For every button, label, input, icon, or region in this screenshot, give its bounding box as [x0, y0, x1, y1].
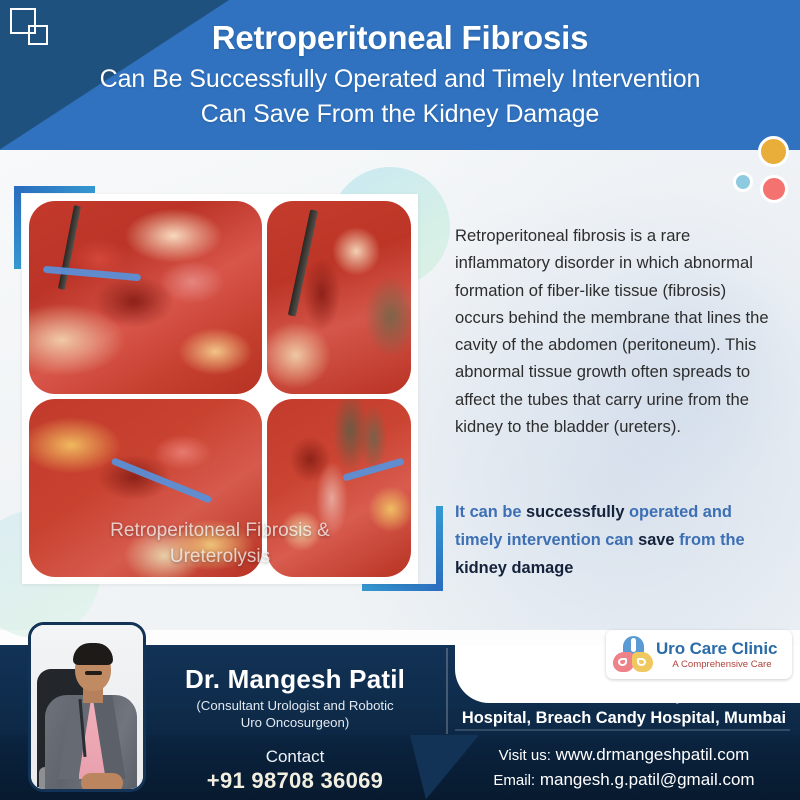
surgical-photo-collage: Retroperitoneal Fibrosis & Ureterolysis	[22, 194, 418, 584]
decor-dot-orange	[758, 136, 789, 167]
highlight-part-1: It can be	[455, 503, 526, 521]
poster-root: Retroperitoneal Fibrosis Can Be Successf…	[0, 0, 800, 800]
subtitle-line-1: Can Be Successfully Operated and Timely …	[100, 65, 701, 93]
page-title: Retroperitoneal Fibrosis	[0, 19, 800, 57]
email-row[interactable]: Email: mangesh.g.patil@gmail.com	[452, 769, 796, 792]
doctor-role-line-2: Uro Oncosurgeon)	[150, 714, 440, 731]
uro-care-clinic-logo-icon	[613, 636, 653, 674]
decor-dot-blue	[733, 172, 753, 192]
highlight-bold-3: kidney damage	[455, 559, 573, 577]
highlight-bold-1: successfully	[526, 503, 624, 521]
website-url[interactable]: www.drmangeshpatil.com	[556, 745, 750, 764]
surgical-photo-2	[267, 201, 411, 394]
page-subtitle: Can Be Successfully Operated and Timely …	[0, 63, 800, 130]
description-text: Retroperitoneal fibrosis is a rare infla…	[455, 222, 775, 440]
decor-dot-pink	[760, 175, 788, 203]
highlight-statement: It can be successfully operated and time…	[455, 498, 775, 582]
affiliated-line-2: Hospital, Breach Candy Hospital, Mumbai	[452, 707, 796, 730]
contact-label: Contact	[150, 747, 440, 767]
surgical-photo-3	[29, 399, 262, 577]
footer-vertical-divider	[446, 648, 448, 734]
header-banner: Retroperitoneal Fibrosis Can Be Successf…	[0, 0, 800, 150]
doctor-role: (Consultant Urologist and Robotic Uro On…	[150, 697, 440, 731]
surgical-photo-1	[29, 201, 262, 394]
doctor-photo-frame	[28, 622, 146, 792]
clinic-tagline: A Comprehensive Care	[656, 658, 792, 671]
contact-phone-number[interactable]: +91 98708 36069	[150, 768, 440, 794]
clinic-name: Uro Care Clinic	[656, 639, 792, 658]
affiliated-hospitals: Affiliated with HNRF Hospital, Saifee Ho…	[452, 684, 796, 730]
email-address[interactable]: mangesh.g.patil@gmail.com	[540, 770, 755, 789]
visit-label: Visit us:	[499, 747, 551, 764]
doctor-name: Dr. Mangesh Patil	[150, 664, 440, 695]
doctor-role-line-1: (Consultant Urologist and Robotic	[150, 697, 440, 714]
affiliated-line-1: Affiliated with HNRF Hospital, Saifee	[452, 684, 796, 707]
website-row[interactable]: Visit us: www.drmangeshpatil.com	[452, 744, 796, 767]
highlight-bold-2: save	[638, 531, 674, 549]
highlight-part-3: from the	[675, 531, 745, 549]
email-label: Email:	[493, 772, 535, 789]
header-text-block: Retroperitoneal Fibrosis Can Be Successf…	[0, 0, 800, 130]
subtitle-line-2: Can Save From the Kidney Damage	[0, 98, 800, 130]
surgical-photo-4	[267, 399, 411, 577]
clinic-logo-card: Uro Care Clinic A Comprehensive Care	[606, 630, 792, 679]
doctor-portrait-image	[31, 625, 143, 789]
